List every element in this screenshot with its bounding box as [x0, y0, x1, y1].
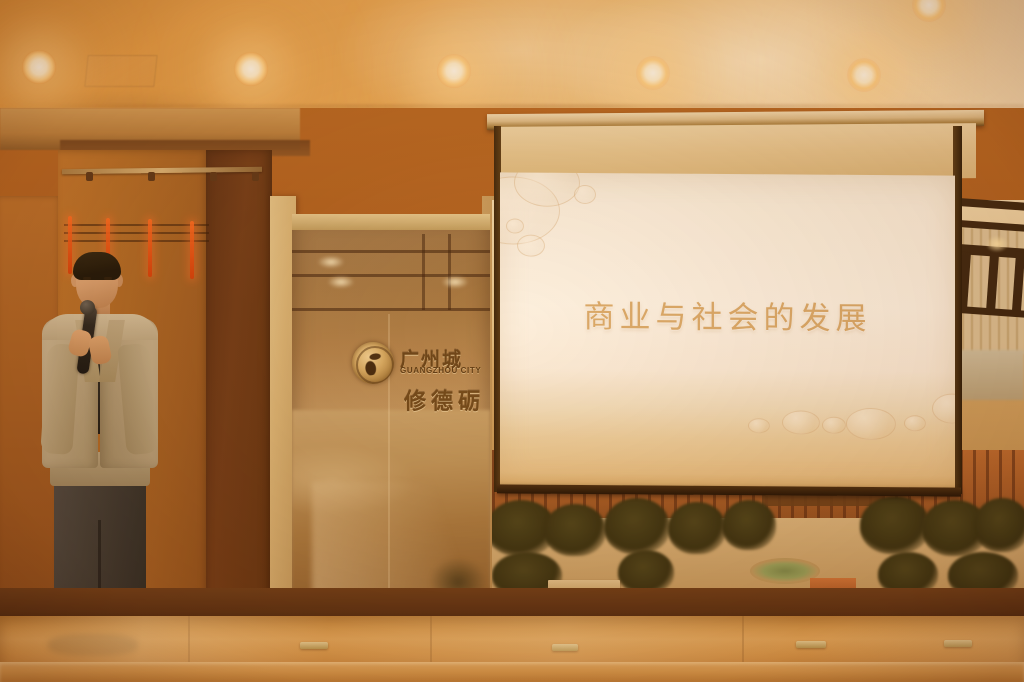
stage-floor-marker-2 [552, 644, 578, 651]
glass-partition-door[interactable]: 广州城 GUANGZHOU CITY 修德砺 [292, 214, 490, 610]
glass-mullion-h1 [292, 250, 490, 253]
panel-groove-3 [64, 240, 209, 242]
downlight-4-icon [636, 56, 670, 90]
downlight-1-icon [22, 50, 56, 84]
red-accent-strip-4 [190, 221, 194, 279]
presenter-floor-reflection [48, 634, 138, 656]
stage-floor-marker-3 [796, 641, 826, 648]
stage-floorboard-seam-1 [188, 616, 190, 664]
louvre-light-glow [986, 236, 1008, 252]
presenter-eye-right [104, 277, 112, 280]
track-light-head-1 [86, 172, 93, 181]
slide-bubble-7 [822, 417, 846, 434]
mural-tree-4 [668, 502, 726, 554]
slide-bubble-8 [846, 408, 896, 440]
emblem-phoenix-icon [361, 350, 384, 377]
stage-floor-marker-1 [300, 642, 328, 649]
panel-groove-2 [64, 232, 209, 234]
phoenix-seal-emblem-icon [352, 342, 394, 384]
glass-door-header [292, 214, 490, 230]
brand-motto-chinese: 修德砺 [404, 384, 485, 416]
stage-front-edge [0, 662, 1024, 682]
auditorium-scene: 广州城 GUANGZHOU CITY 修德砺 [0, 0, 1024, 682]
track-light-head-4 [252, 172, 259, 181]
brand-name-english: GUANGZHOU CITY [400, 366, 481, 375]
louvre-fin-3 [1012, 252, 1024, 312]
slide-bubble-6 [782, 410, 820, 434]
track-light-head-3 [210, 172, 217, 181]
projection-screen[interactable]: 商业与社会的发展 [487, 112, 984, 497]
panel-groove-1 [64, 224, 209, 226]
wall-panel-dark [206, 150, 272, 628]
screen-bottom-weight-bar [497, 484, 961, 496]
ceiling-lamp-reflection-2 [328, 276, 354, 288]
glass-mullion-v2 [448, 234, 451, 310]
presenter-hair [73, 252, 121, 280]
ceiling-lamp-reflection-3 [442, 276, 468, 288]
downlight-3-icon [437, 54, 471, 88]
stage-floorboard-seam-2 [430, 616, 432, 664]
slide-bubble-5 [517, 235, 545, 257]
projected-slide: 商业与社会的发展 [500, 172, 955, 491]
slide-bubble-3 [574, 185, 596, 204]
slide-bubble-11 [748, 418, 770, 433]
mural-tree-2 [544, 504, 606, 556]
stage-floorboard-seam-3 [742, 616, 744, 664]
downlight-2-icon [234, 52, 268, 86]
slide-title: 商业与社会的发展 [500, 290, 955, 338]
glass-mullion-h3 [292, 308, 490, 311]
slide-bubble-9 [904, 415, 926, 431]
mural-tree-8 [974, 498, 1024, 552]
presenter-eye-left [83, 277, 91, 280]
stage-floor-marker-4 [944, 640, 972, 647]
downlight-5-icon [847, 58, 881, 92]
mural-tree-3 [604, 498, 670, 554]
track-light-head-2 [148, 172, 155, 181]
glass-mullion-v1 [422, 234, 425, 310]
ceiling-lamp-reflection-1 [318, 256, 344, 268]
slide-bubble-4 [506, 218, 524, 233]
mural-tree-6 [860, 496, 930, 554]
ceiling-vent-panel [84, 55, 157, 87]
mural-tree-5 [722, 500, 776, 550]
louvre-fin-2 [986, 252, 999, 314]
slide-bubble-10 [932, 393, 955, 423]
stage-floor [0, 616, 1024, 668]
